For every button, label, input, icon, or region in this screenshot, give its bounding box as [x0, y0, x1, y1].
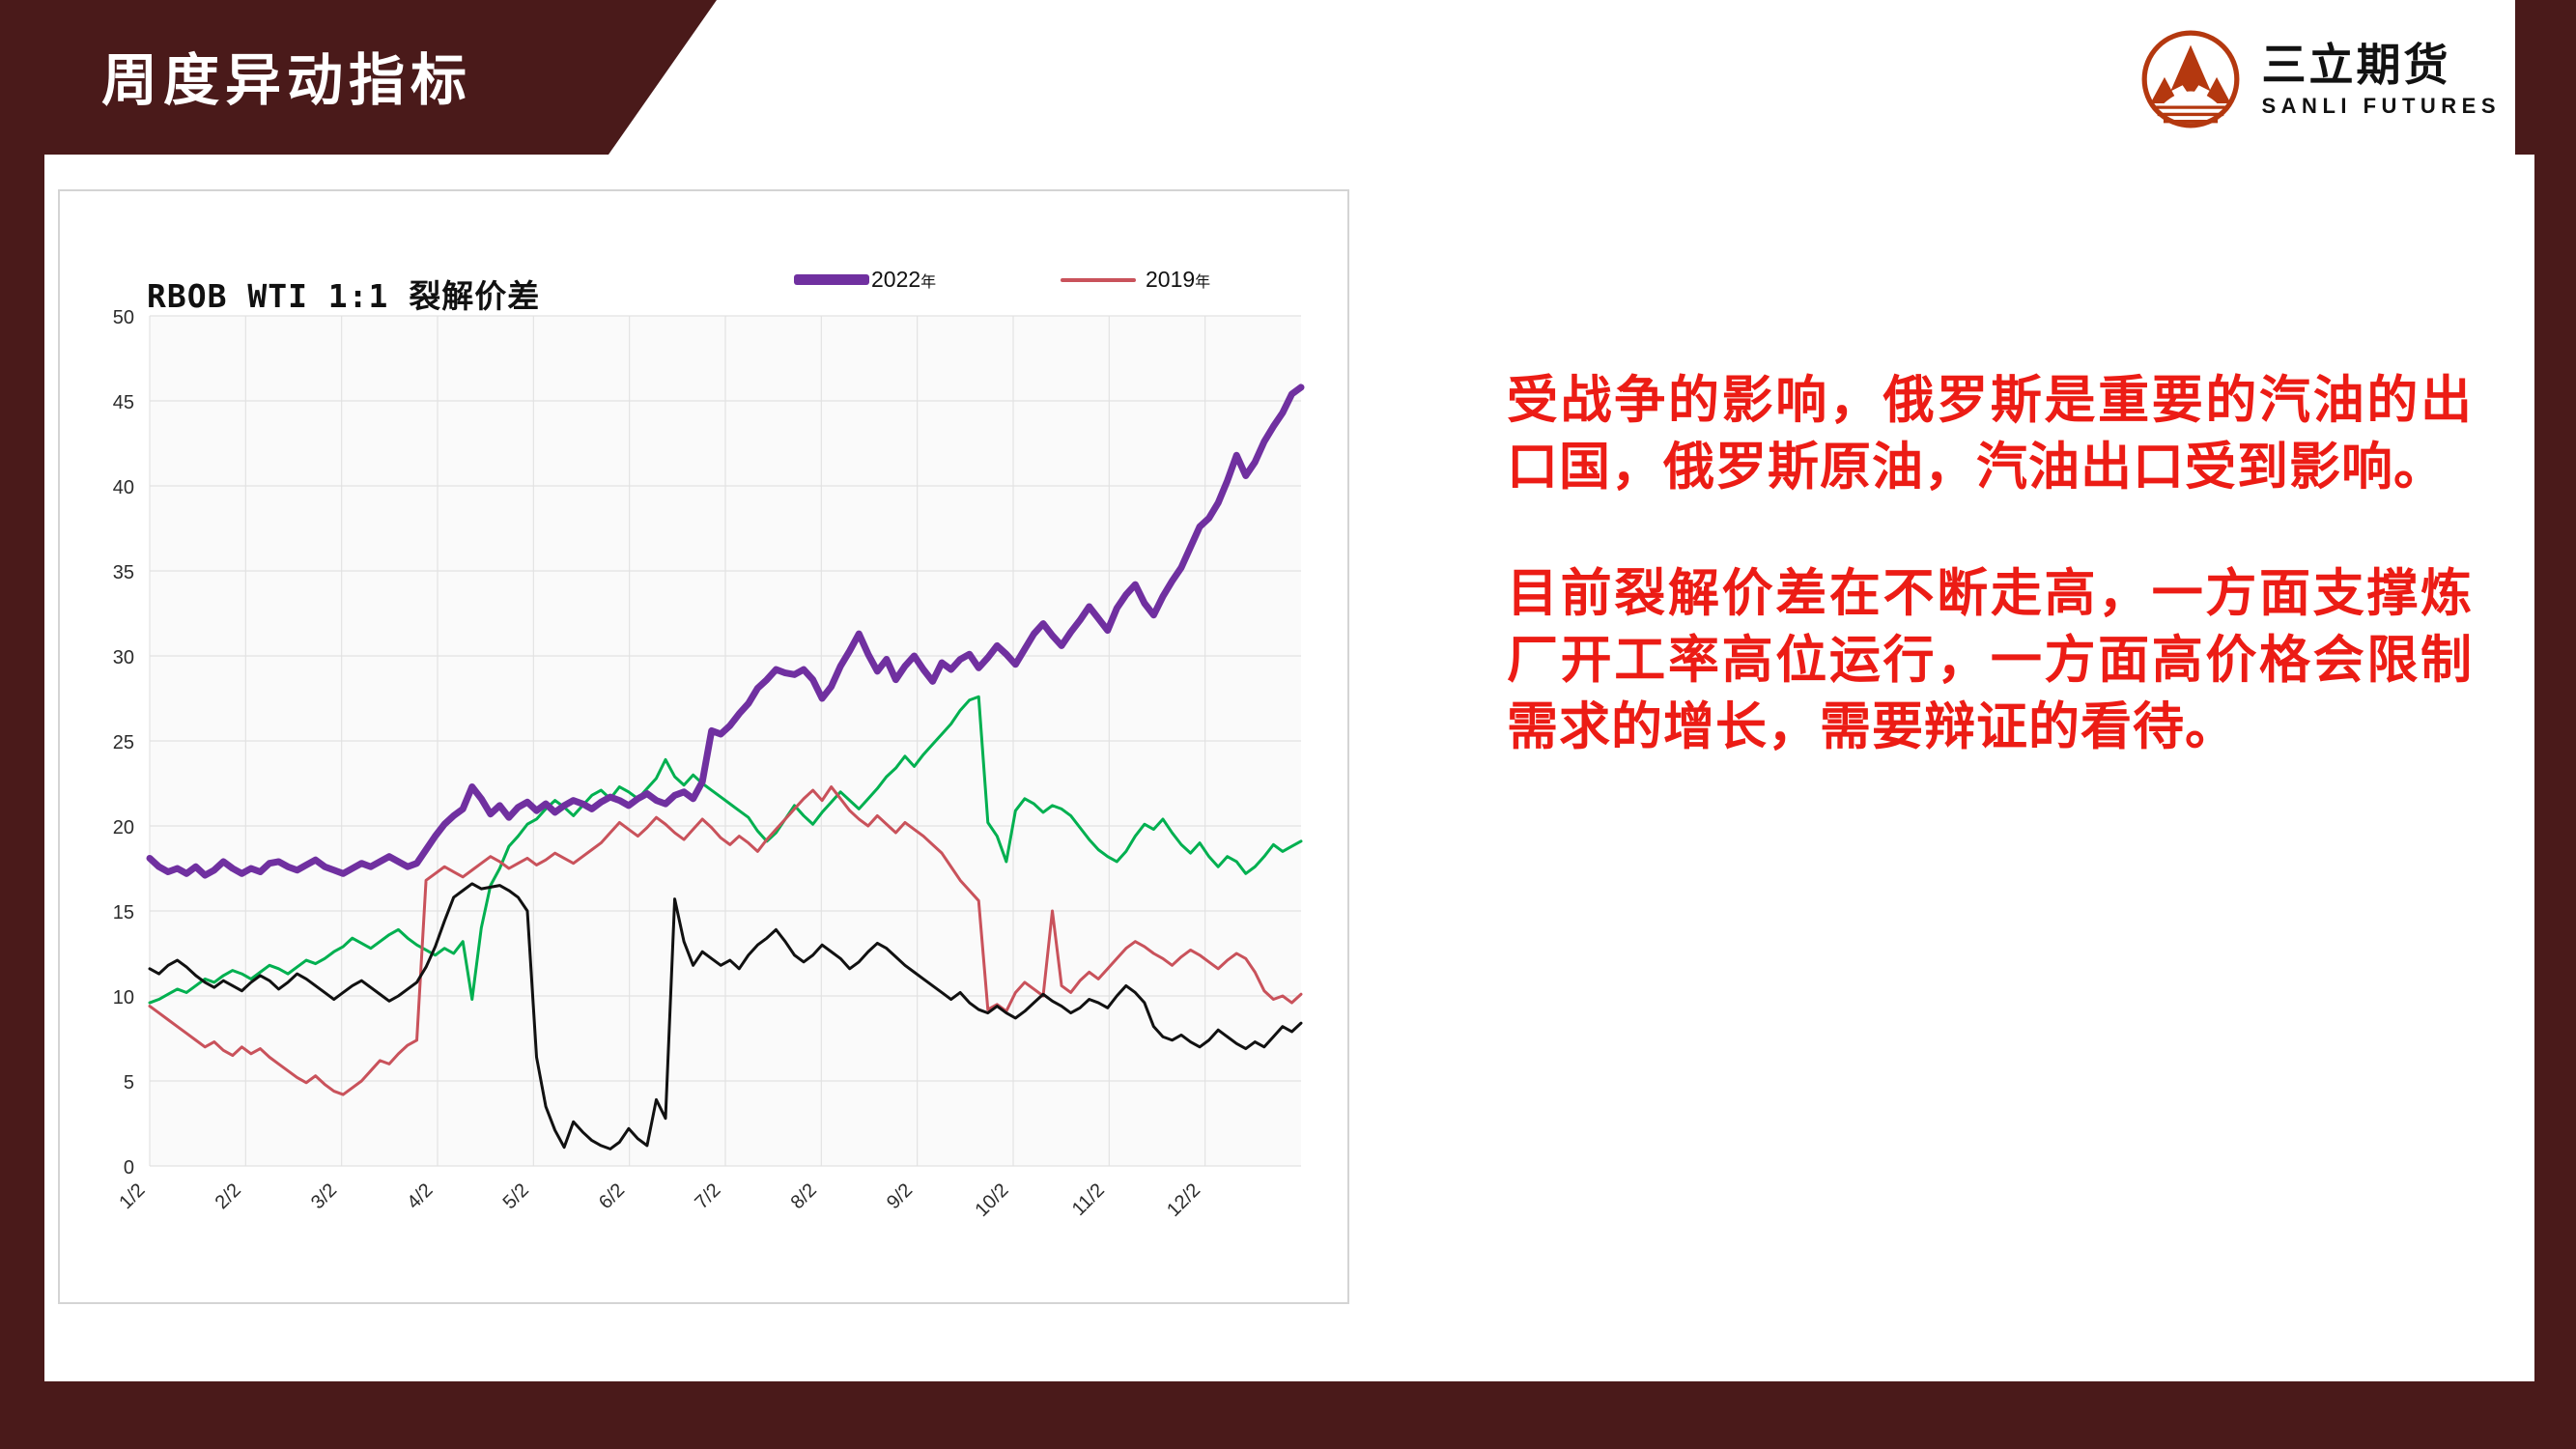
chart-card: RBOB WTI 1:1 裂解价差 2022年 2019年 2020年 2021…: [58, 189, 1349, 1304]
y-axis-tick-label: 0: [124, 1157, 134, 1179]
x-axis-tick-label: 6/2: [595, 1179, 629, 1213]
x-axis-tick-label: 3/2: [307, 1179, 341, 1213]
x-axis-tick-label: 5/2: [499, 1179, 533, 1213]
y-axis-tick-label: 40: [113, 477, 134, 498]
x-axis-tick-label: 12/2: [1163, 1179, 1204, 1221]
y-axis-tick-label: 15: [113, 902, 134, 923]
logo-en-name: SANLI FUTURES: [2262, 96, 2502, 117]
x-axis-tick-label: 9/2: [883, 1179, 917, 1213]
commentary-paragraph-1: 受战争的影响，俄罗斯是重要的汽油的出口国，俄罗斯原油，汽油出口受到影响。: [1507, 367, 2473, 500]
x-axis-tick-label: 8/2: [787, 1179, 821, 1213]
y-axis-tick-label: 30: [113, 647, 134, 668]
chart-plot-area: 051015202530354045501/22/23/24/25/26/27/…: [60, 191, 1351, 1306]
page-title: 周度异动指标: [101, 35, 472, 116]
y-axis-tick-label: 10: [113, 987, 134, 1009]
chart-svg: 051015202530354045501/22/23/24/25/26/27/…: [60, 191, 1351, 1306]
x-axis-tick-label: 7/2: [691, 1179, 724, 1213]
x-axis-tick-label: 1/2: [115, 1179, 149, 1213]
logo-cn-name: 三立期货: [2262, 43, 2502, 87]
y-axis-tick-label: 45: [113, 392, 134, 413]
header-right-edge: [2515, 0, 2576, 155]
x-axis-tick-label: 10/2: [971, 1179, 1012, 1221]
slide-root: 周度异动指标 三立期货 SANLI FUTURES RBOB WTI 1:1 裂…: [0, 0, 2576, 1449]
y-axis-tick-label: 5: [124, 1072, 134, 1094]
y-axis-tick-label: 25: [113, 732, 134, 753]
y-axis-tick-label: 20: [113, 817, 134, 838]
x-axis-tick-label: 2/2: [212, 1179, 245, 1213]
commentary-block: 受战争的影响，俄罗斯是重要的汽油的出口国，俄罗斯原油，汽油出口受到影响。 目前裂…: [1507, 367, 2473, 759]
y-axis-tick-label: 35: [113, 562, 134, 583]
x-axis-tick-label: 11/2: [1068, 1179, 1109, 1220]
logo-text: 三立期货 SANLI FUTURES: [2262, 43, 2502, 117]
x-axis-tick-label: 4/2: [403, 1179, 437, 1213]
commentary-paragraph-2: 目前裂解价差在不断走高，一方面支撑炼厂开工率高位运行，一方面高价格会限制需求的增…: [1507, 560, 2473, 760]
mountain-logo-icon: [2140, 29, 2241, 129]
brand-logo: 三立期货 SANLI FUTURES: [2140, 29, 2502, 129]
y-axis-tick-label: 50: [113, 307, 134, 328]
